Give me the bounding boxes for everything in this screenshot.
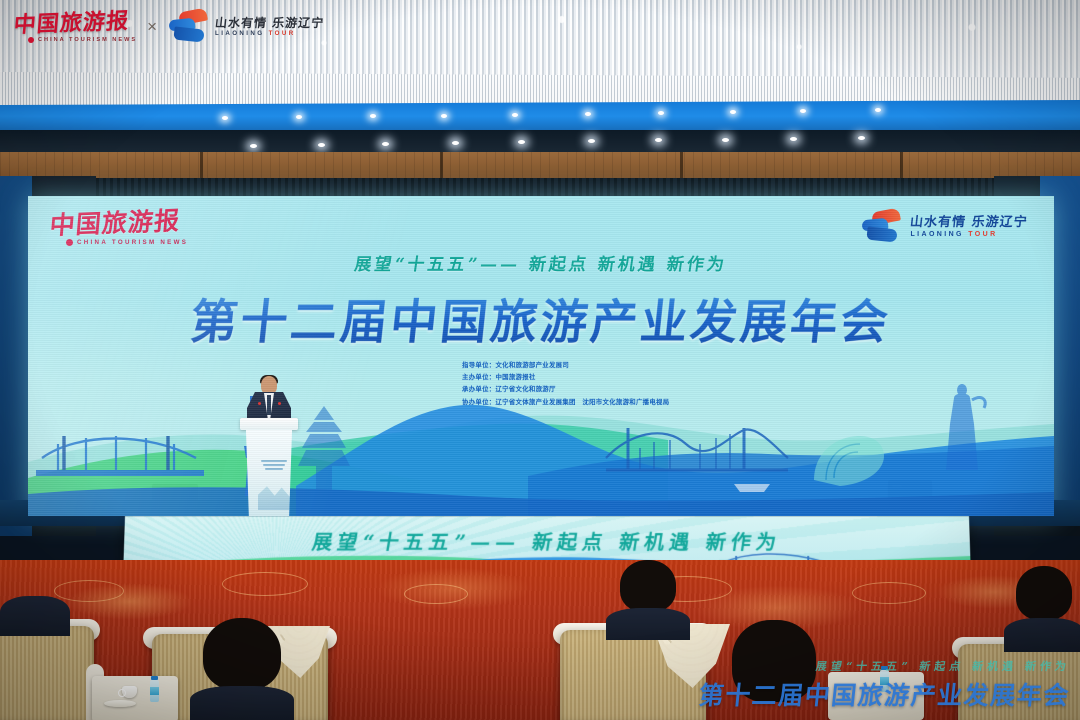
- screen-scenery-illustration: [28, 366, 1054, 516]
- ceiling-downlight: [585, 112, 591, 116]
- soffit-downlight: [655, 138, 662, 142]
- water-bottle: [150, 676, 159, 702]
- podium-lectern: [240, 418, 298, 516]
- ceiling-downlight: [730, 110, 736, 114]
- ceiling-downlight: [875, 108, 881, 112]
- chair-back: [0, 626, 94, 720]
- lapel-pin-icon: [258, 402, 261, 405]
- attendee-head: [1016, 566, 1072, 620]
- screen-ln-cn: 山水有情 乐游辽宁: [910, 216, 1029, 230]
- boat-icon: [734, 484, 770, 492]
- screen-subtitle: 展望“十五五”—— 新起点 新机遇 新作为: [28, 250, 1054, 275]
- podium-text-marks: [257, 460, 291, 470]
- attendee-shoulders: [606, 608, 690, 640]
- conference-photo: 中国旅游报 CHINA TOURISM NEWS 山水有情 乐游辽宁 LIAON…: [0, 0, 1080, 720]
- soffit-downlight: [382, 142, 389, 146]
- attendee-back-row: [606, 560, 690, 640]
- attendee-head: [620, 560, 676, 612]
- armchair-left: [0, 626, 94, 720]
- screen-main-title: 第十二届中国旅游产业发展年会: [28, 283, 1054, 352]
- soffit-downlight: [790, 137, 797, 141]
- attendee-shoulders: [190, 686, 294, 720]
- ceiling-downlight: [512, 113, 518, 117]
- bottle-label: [150, 687, 159, 695]
- stage-front-text: 展望“十五五”—— 新起点 新机遇 新作为: [123, 526, 971, 555]
- watermark-ln-en: LIAONING TOUR: [215, 30, 324, 37]
- watermark-china-tourism-news: 中国旅游报 CHINA TOURISM NEWS: [14, 12, 137, 43]
- ceiling-downlight: [296, 115, 302, 119]
- screen-ln-en-prefix: LIAONING: [910, 231, 963, 238]
- watermark-ctn-en: CHINA TOURISM NEWS: [38, 37, 137, 43]
- screen-ctn-en: CHINA TOURISM NEWS: [77, 239, 188, 246]
- bottle-body: [150, 680, 159, 702]
- attendee-shoulders: [0, 596, 70, 636]
- watermark-ln-cn: 山水有情 乐游辽宁: [214, 17, 325, 30]
- ceiling-downlight: [658, 111, 664, 115]
- screen-logo-china-tourism-news: 中国旅游报 CHINA TOURISM NEWS: [50, 210, 210, 246]
- attendee-shoulders: [1004, 618, 1080, 652]
- screen-ln-en-accent: TOUR: [968, 231, 997, 238]
- watermark-ln-text: 山水有情 乐游辽宁 LIAONING TOUR: [215, 17, 324, 38]
- podium-body: [245, 430, 293, 516]
- watermark-bottom-subtitle: 展望“十五五” 新起点 新机遇 新作为: [698, 658, 1072, 674]
- watermark-ctn-en-row: CHINA TOURISM NEWS: [28, 37, 137, 43]
- attendee-far-right: [1004, 566, 1080, 652]
- screen-ctn-cn: 中国旅游报: [49, 207, 212, 238]
- screen-ctn-en-row: CHINA TOURISM NEWS: [66, 239, 210, 246]
- screen-headline-block: 展望“十五五”—— 新起点 新机遇 新作为 第十二届中国旅游产业发展年会: [28, 250, 1054, 352]
- soffit-downlight: [452, 141, 459, 145]
- screen-ln-text: 山水有情 乐游辽宁 LIAONING TOUR: [910, 216, 1028, 238]
- carpet-pattern: [222, 572, 308, 596]
- watermark-ln-en-accent: TOUR: [269, 30, 296, 37]
- ceiling-downlight: [222, 116, 228, 120]
- attendee-far-left: [0, 580, 70, 636]
- podium-top: [240, 418, 298, 430]
- screen-logo-liaoning-tour: 山水有情 乐游辽宁 LIAONING TOUR: [860, 210, 1028, 244]
- podium-graphic: [258, 476, 290, 510]
- soffit-downlight: [722, 138, 729, 142]
- led-backdrop-screen: 中国旅游报 CHINA TOURISM NEWS 山水有情 乐游辽宁 LIAON…: [28, 196, 1054, 516]
- carpet-pattern: [404, 584, 468, 604]
- saucer: [104, 700, 136, 707]
- attendee-head: [203, 618, 281, 690]
- side-table-left: [92, 676, 178, 720]
- carpet-pattern: [852, 582, 926, 604]
- liaoning-swoosh-icon: [167, 10, 209, 44]
- watermark-separator: ×: [147, 17, 157, 37]
- screen-ln-en: LIAONING TOUR: [910, 231, 1028, 238]
- watermark-bottom-main-title: 第十二届中国旅游产业发展年会: [697, 676, 1072, 712]
- liaoning-swoosh-icon: [860, 210, 902, 244]
- ceiling-downlight: [800, 109, 806, 113]
- watermark-ln-en-prefix: LIAONING: [215, 30, 264, 37]
- soffit-downlight: [858, 136, 865, 140]
- watermark-liaoning-tour: 山水有情 乐游辽宁 LIAONING TOUR: [167, 10, 324, 44]
- soffit-downlight: [588, 139, 595, 143]
- soffit-downlight: [318, 143, 325, 147]
- ceiling-downlight: [370, 114, 376, 118]
- watermark-ctn-cn: 中国旅游报: [13, 9, 138, 35]
- red-circle-icon: [66, 239, 73, 246]
- ceiling-downlight: [441, 114, 447, 118]
- attendee-center: [190, 618, 294, 720]
- watermark-bottom-title: 展望“十五五” 新起点 新机遇 新作为 第十二届中国旅游产业发展年会: [699, 658, 1070, 712]
- lapel-pin-icon: [278, 402, 281, 405]
- soffit-downlight: [250, 144, 257, 148]
- speaker-tie: [267, 395, 271, 415]
- watermark-top-logos: 中国旅游报 CHINA TOURISM NEWS × 山水有情 乐游辽宁 LIA…: [14, 10, 324, 44]
- soffit-downlight: [518, 140, 525, 144]
